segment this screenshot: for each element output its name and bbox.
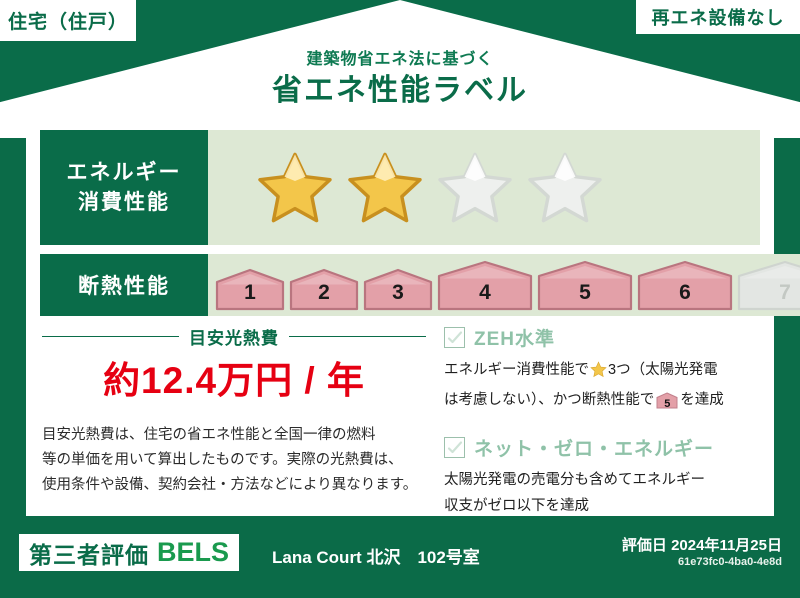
- energy-performance-star-rating: [208, 130, 760, 245]
- badge-renewable-equipment-label: 再エネ設備なし: [652, 4, 785, 30]
- evaluation-id: 61e73fc0-4ba0-4e8d: [678, 556, 782, 568]
- insulation-performance-row: 断熱性能 1234567: [40, 254, 760, 316]
- energy-performance-label-line1: エネルギー: [67, 158, 182, 188]
- cost-note-line3: 使用条件や設備、契約会社・方法などにより異なります。: [42, 473, 426, 498]
- criterion-zeh: ZEH水準 エネルギー消費性能で3つ（太陽光発電 は考慮しない）、かつ断熱性能で…: [444, 324, 760, 418]
- insulation-performance-scale: 1234567: [208, 254, 800, 316]
- label-title-group: 建築物省エネ法に基づく 省エネ性能ラベル: [0, 50, 800, 110]
- cost-heading: 目安光熱費: [42, 324, 426, 349]
- cost-section: 目安光熱費 約12.4万円 / 年 目安光熱費は、住宅の省エネ性能と全国一律の燃…: [42, 324, 426, 498]
- insulation-house-level-value: 7: [736, 281, 800, 305]
- insulation-performance-label-text: 断熱性能: [78, 270, 170, 300]
- criteria-section: ZEH水準 エネルギー消費性能で3つ（太陽光発電 は考慮しない）、かつ断熱性能で…: [444, 324, 760, 535]
- badge-building-type-label: 住宅（住戸）: [8, 7, 128, 34]
- cost-heading-rule-left: [42, 336, 179, 337]
- insulation-house-level-value: 1: [214, 281, 286, 305]
- label-title-subtitle: 建築物省エネ法に基づく: [0, 50, 800, 70]
- footer-band: 第三者評価 BELS Lana Court 北沢 102号室 評価日 2024年…: [0, 516, 800, 598]
- page-title: 省エネ性能ラベル: [0, 72, 800, 110]
- star-icon-empty: [436, 150, 514, 225]
- insulation-performance-label: 断熱性能: [40, 254, 208, 316]
- insulation-house-level: 5: [536, 260, 634, 312]
- criterion-net-zero-body: 太陽光発電の売電分も含めてエネルギー 収支がゼロ以下を達成: [444, 467, 760, 519]
- insulation-house-level: 1: [214, 268, 286, 312]
- energy-performance-row: エネルギー 消費性能: [40, 130, 760, 245]
- energy-performance-label: エネルギー 消費性能: [40, 130, 208, 245]
- badge-renewable-equipment: 再エネ設備なし: [636, 0, 800, 34]
- criterion-zeh-body-line2: は考慮しない）、かつ断熱性能で5を達成: [444, 387, 760, 418]
- criterion-zeh-title: ZEH水準: [474, 324, 555, 351]
- checkbox-unchecked-icon: [444, 437, 465, 458]
- checkbox-unchecked-icon: [444, 327, 465, 348]
- insulation-house-level-value: 6: [636, 281, 734, 305]
- insulation-house-level: 2: [288, 268, 360, 312]
- energy-performance-label-line2: 消費性能: [78, 188, 170, 218]
- criterion-net-zero-header: ネット・ゼロ・エネルギー: [444, 434, 760, 461]
- criterion-net-zero-energy: ネット・ゼロ・エネルギー 太陽光発電の売電分も含めてエネルギー 収支がゼロ以下を…: [444, 434, 760, 519]
- criterion-zeh-line1-pre: エネルギー消費性能で: [444, 362, 589, 378]
- criterion-zeh-header: ZEH水準: [444, 324, 760, 351]
- house-badge-icon-inline-value: 5: [656, 391, 678, 417]
- criterion-net-zero-title: ネット・ゼロ・エネルギー: [474, 434, 714, 461]
- star-icon-filled: [346, 150, 424, 225]
- star-icon-filled: [256, 150, 334, 225]
- insulation-house-level-value: 3: [362, 281, 434, 305]
- label-card: エネルギー 消費性能 断熱性能 1234567 目安光熱費 約12.4万円 / …: [26, 112, 774, 516]
- insulation-house-level-value: 2: [288, 281, 360, 305]
- house-badge-icon-inline: 5: [656, 392, 678, 418]
- cost-note-line1: 目安光熱費は、住宅の省エネ性能と全国一律の燃料: [42, 423, 426, 448]
- insulation-house-level: 7: [736, 260, 800, 312]
- criterion-zeh-line2-post: を達成: [680, 392, 724, 408]
- cost-heading-rule-right: [289, 336, 426, 337]
- evaluation-date: 評価日 2024年11月25日: [622, 534, 782, 555]
- bels-badge-en-label: BELS: [157, 537, 229, 568]
- criterion-zeh-body-line1: エネルギー消費性能で3つ（太陽光発電: [444, 357, 760, 387]
- cost-note: 目安光熱費は、住宅の省エネ性能と全国一律の燃料 等の単価を用いて算出したものです…: [42, 423, 426, 498]
- insulation-house-level-value: 5: [536, 281, 634, 305]
- criterion-net-zero-body-line1: 太陽光発電の売電分も含めてエネルギー: [444, 467, 760, 493]
- criterion-zeh-line1-post: 3つ（太陽光発電: [608, 362, 718, 378]
- badge-building-type: 住宅（住戸）: [0, 0, 136, 41]
- insulation-house-level: 3: [362, 268, 434, 312]
- cost-amount: 約12.4万円 / 年: [42, 359, 426, 403]
- cost-note-line2: 等の単価を用いて算出したものです。実際の光熱費は、: [42, 448, 426, 473]
- insulation-house-level-value: 4: [436, 281, 534, 305]
- insulation-house-level: 4: [436, 260, 534, 312]
- criterion-zeh-body: エネルギー消費性能で3つ（太陽光発電 は考慮しない）、かつ断熱性能で5を達成: [444, 357, 760, 418]
- bels-badge-jp-label: 第三者評価: [29, 536, 149, 570]
- insulation-house-strip: 1234567: [214, 260, 800, 316]
- star-icon-empty: [526, 150, 604, 225]
- criterion-zeh-line2-pre: は考慮しない）、かつ断熱性能で: [444, 392, 654, 408]
- cost-heading-label: 目安光熱費: [189, 324, 279, 349]
- insulation-house-level: 6: [636, 260, 734, 312]
- building-name: Lana Court 北沢 102号室: [272, 543, 480, 568]
- bels-badge: 第三者評価 BELS: [19, 534, 239, 571]
- star-icon-inline: [590, 366, 607, 382]
